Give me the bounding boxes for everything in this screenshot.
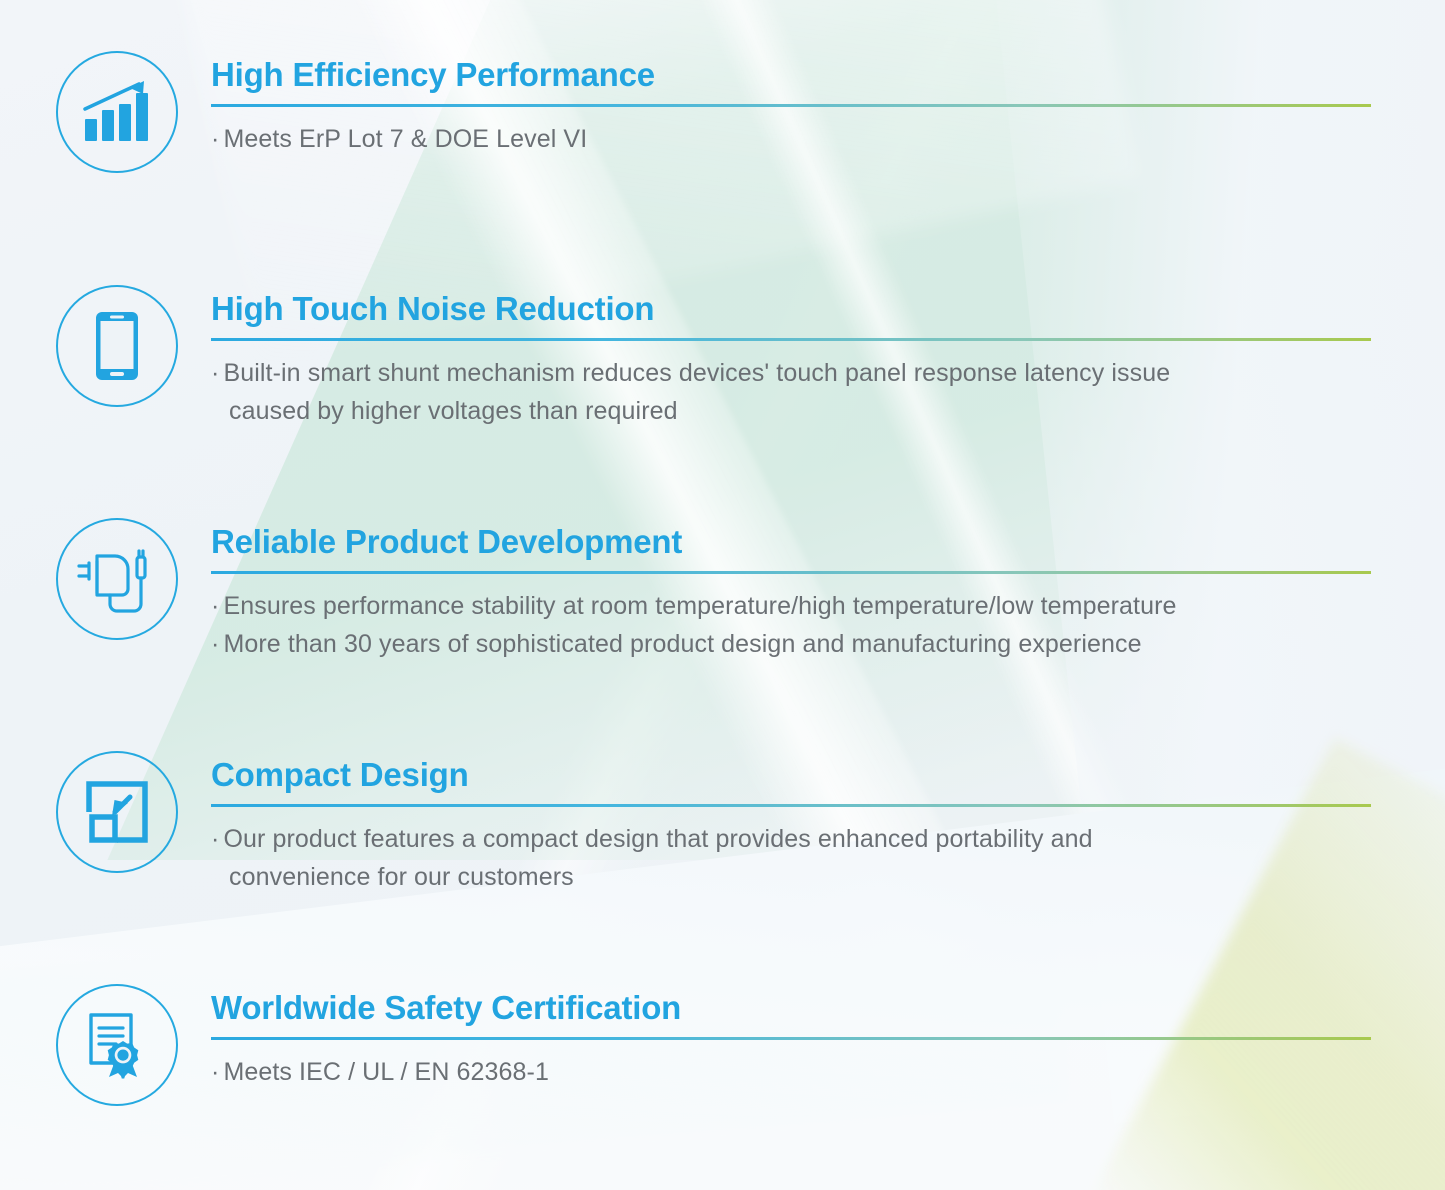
feature-title: Worldwide Safety Certification [211,988,1371,1028]
feature-bullets: ·Ensures performance stability at room t… [211,587,1371,663]
bullet-marker: · [211,630,219,658]
power-adapter-icon [56,518,178,640]
feature-title: High Efficiency Performance [211,55,1371,95]
feature-divider [211,571,1371,574]
bullet-marker: · [211,125,219,153]
bullet-marker: · [211,592,219,620]
bullet-text: Ensures performance stability at room te… [223,592,1176,620]
feature-icon-wrapper [52,514,182,644]
feature-body: Reliable Product Development ·Ensures pe… [211,522,1371,663]
bullet-text: More than 30 years of sophisticated prod… [223,630,1141,658]
feature-body: High Efficiency Performance ·Meets ErP L… [211,55,1371,158]
compact-resize-icon [56,751,178,873]
feature-bullet-line: ·Our product features a compact design t… [211,820,1371,896]
feature-icon-wrapper [52,281,182,411]
bullet-marker: · [211,825,219,853]
feature-bullet-line: ·Built-in smart shunt mechanism reduces … [211,354,1371,430]
feature-icon-wrapper [52,747,182,877]
bullet-text-continuation: caused by higher voltages than required [211,392,1371,430]
feature-bullets: ·Our product features a compact design t… [211,820,1371,896]
feature-bullet-line: ·More than 30 years of sophisticated pro… [211,625,1371,663]
feature-bullets: ·Built-in smart shunt mechanism reduces … [211,354,1371,430]
feature-bullet-line: ·Meets IEC / UL / EN 62368-1 [211,1053,1371,1091]
bullet-text: Our product features a compact design th… [223,825,1092,853]
feature-divider [211,338,1371,341]
feature-divider [211,104,1371,107]
feature-body: Worldwide Safety Certification ·Meets IE… [211,988,1371,1091]
feature-title: Reliable Product Development [211,522,1371,562]
feature-divider [211,804,1371,807]
feature-title: High Touch Noise Reduction [211,289,1371,329]
feature-body: Compact Design ·Our product features a c… [211,755,1371,896]
bullet-text: Built-in smart shunt mechanism reduces d… [223,359,1170,387]
bullet-text: Meets IEC / UL / EN 62368-1 [223,1058,549,1086]
feature-highlights-page: High Efficiency Performance ·Meets ErP L… [0,0,1445,1190]
feature-bullets: ·Meets ErP Lot 7 & DOE Level VI [211,120,1371,158]
feature-icon-wrapper [52,47,182,177]
certificate-seal-icon [56,984,178,1106]
smartphone-icon [56,285,178,407]
feature-divider [211,1037,1371,1040]
feature-bullet-line: ·Ensures performance stability at room t… [211,587,1371,625]
bullet-marker: · [211,1058,219,1086]
feature-bullet-line: ·Meets ErP Lot 7 & DOE Level VI [211,120,1371,158]
bullet-text-continuation: convenience for our customers [211,858,1371,896]
feature-icon-wrapper [52,980,182,1110]
feature-body: High Touch Noise Reduction ·Built-in sma… [211,289,1371,430]
bullet-marker: · [211,359,219,387]
bar-chart-growth-icon [56,51,178,173]
feature-title: Compact Design [211,755,1371,795]
feature-bullets: ·Meets IEC / UL / EN 62368-1 [211,1053,1371,1091]
bullet-text: Meets ErP Lot 7 & DOE Level VI [223,125,587,153]
